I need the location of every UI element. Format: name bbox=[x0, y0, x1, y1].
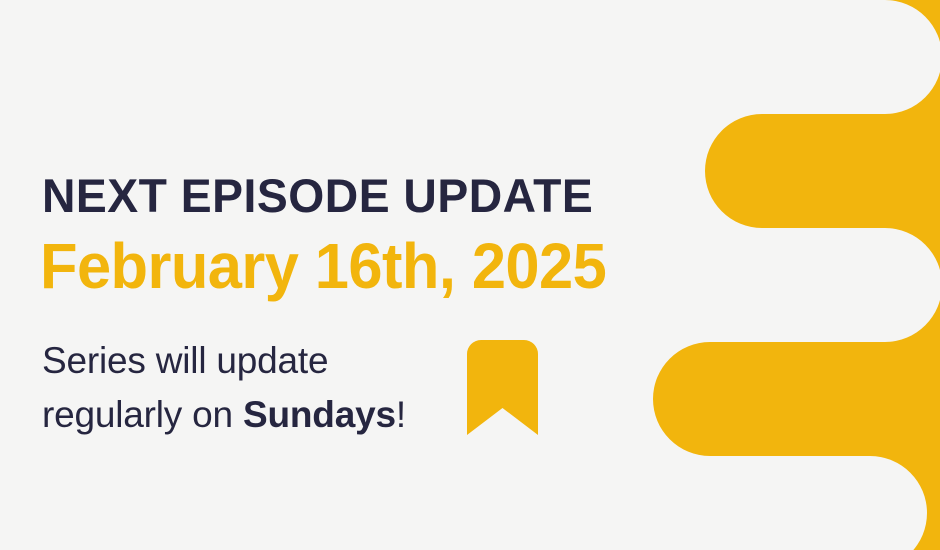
next-episode-update-banner: NEXT EPISODE UPDATE February 16th, 2025 … bbox=[0, 0, 940, 550]
schedule-note-suffix: ! bbox=[396, 394, 406, 435]
schedule-note: Series will update regularly on Sundays! bbox=[42, 334, 406, 442]
wave-decoration-shape bbox=[640, 0, 940, 550]
episode-date: February 16th, 2025 bbox=[40, 234, 606, 299]
banner-content: NEXT EPISODE UPDATE February 16th, 2025 … bbox=[42, 0, 682, 550]
schedule-note-line1: Series will update bbox=[42, 334, 406, 388]
schedule-note-prefix: regularly on bbox=[42, 394, 243, 435]
page-title: NEXT EPISODE UPDATE bbox=[42, 172, 593, 220]
schedule-note-line2: regularly on Sundays! bbox=[42, 388, 406, 442]
bookmark-icon bbox=[467, 340, 538, 435]
schedule-note-day: Sundays bbox=[243, 394, 396, 435]
